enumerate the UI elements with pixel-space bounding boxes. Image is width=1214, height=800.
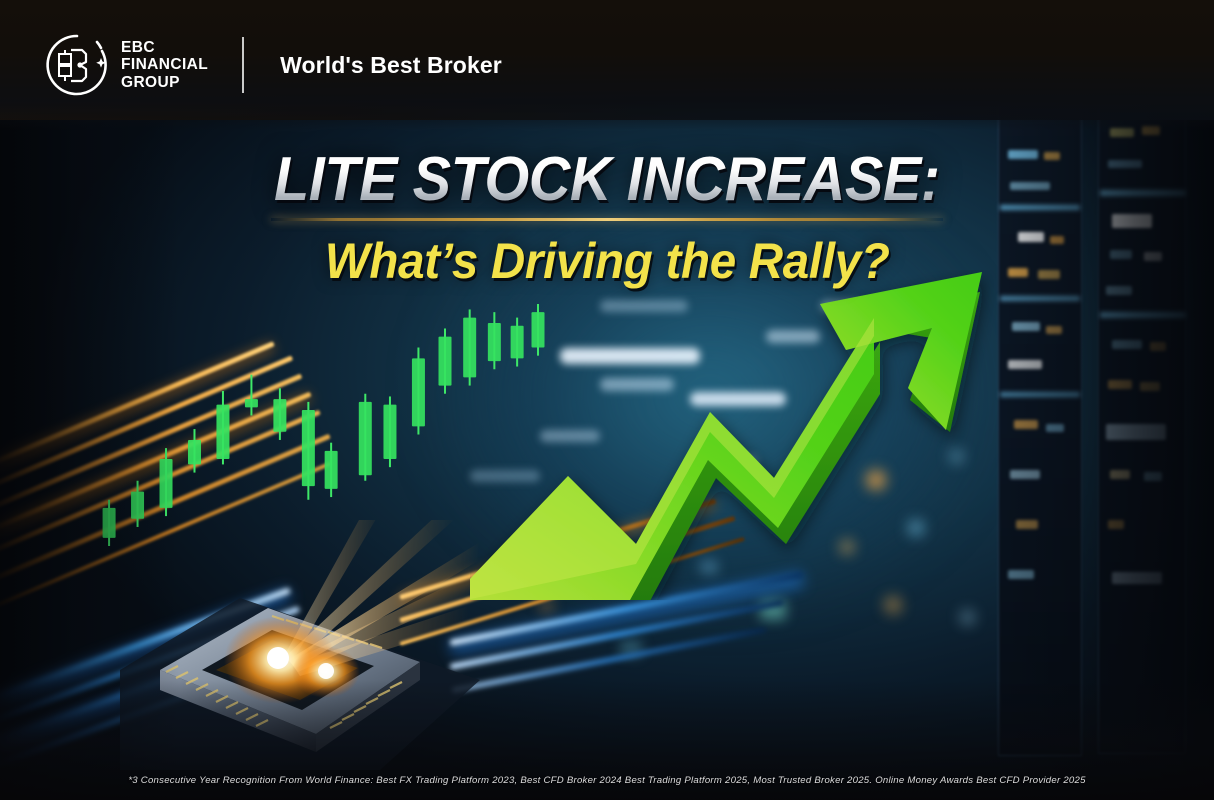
logo-line-3: GROUP (121, 74, 208, 92)
footer: *3 Consecutive Year Recognition From Wor… (0, 770, 1214, 788)
candle-body (412, 358, 425, 426)
candle-body (216, 405, 229, 459)
candle-body (439, 337, 452, 386)
candle-body (383, 405, 396, 459)
footer-disclaimer: *3 Consecutive Year Recognition From Wor… (128, 775, 1085, 786)
candle-body (188, 440, 201, 464)
candle-wick (250, 375, 252, 416)
candle-body (359, 402, 372, 475)
hero-title-block: LITE STOCK INCREASE: What’s Driving the … (0, 148, 1214, 288)
candle-body (245, 399, 258, 407)
candle-body (325, 451, 338, 489)
logo-wordmark: EBC FINANCIAL GROUP (121, 39, 208, 92)
header-tagline: World's Best Broker (280, 52, 502, 79)
gold-divider-rule (271, 218, 943, 221)
header-divider (242, 37, 244, 93)
promo-banner: EBC FINANCIAL GROUP World's Best Broker … (0, 0, 1214, 800)
trend-arrow (470, 270, 1010, 600)
page-title: LITE STOCK INCREASE: (274, 148, 940, 212)
brand-header: EBC FINANCIAL GROUP World's Best Broker (0, 0, 1214, 130)
candle-body (302, 410, 315, 486)
page-subtitle: What’s Driving the Rally? (325, 235, 890, 288)
logo-line-2: FINANCIAL (121, 56, 208, 74)
logo-line-1: EBC (121, 39, 208, 57)
candle-body (273, 399, 286, 432)
ebc-circle-monogram-logo-icon[interactable] (44, 32, 110, 98)
